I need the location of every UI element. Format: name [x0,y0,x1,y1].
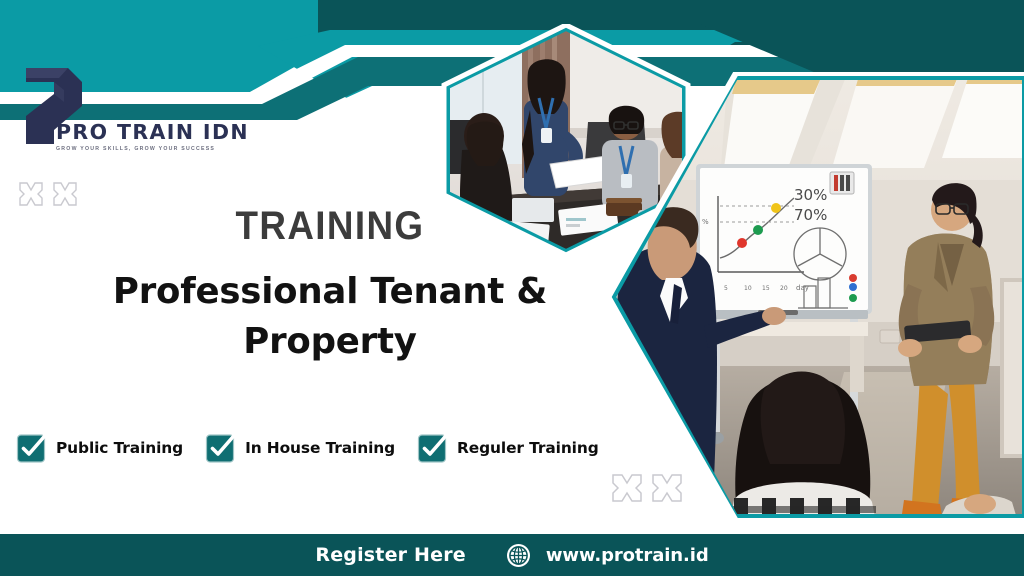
brand-tagline: GROW YOUR SKILLS, GROW YOUR SUCCESS [56,147,246,152]
page-title-line-2: Property [60,317,600,367]
svg-text:10: 10 [744,285,752,292]
page-title-line-1: Professional Tenant & [60,267,600,317]
svg-text:15: 15 [762,285,770,292]
training-option-in-house[interactable]: In House Training [205,432,395,463]
footer-register-bar: Register Here www.protrain.id [0,534,1024,576]
training-option-label: Public Training [56,439,183,457]
svg-text:5: 5 [724,285,728,292]
brand-logo-text: PRO TRAIN IDN GROW YOUR SKILLS, GROW YOU… [56,122,246,152]
training-promo-poster: PRO TRAIN IDN GROW YOUR SKILLS, GROW YOU… [0,0,1024,576]
brand-name: PRO TRAIN IDN [56,122,246,143]
photo-training-whiteboard-presentation: 5 10 15 20 day % 30% 70% [608,72,1024,522]
page-title: Professional Tenant & Property [60,267,600,368]
checkbox-checked-icon[interactable] [417,432,448,463]
brand-logo[interactable]: PRO TRAIN IDN GROW YOUR SKILLS, GROW YOU… [14,60,244,160]
svg-text:day: day [796,284,809,292]
training-options-list: Public Training In House Training Regule… [16,432,599,463]
training-option-label: In House Training [245,439,395,457]
svg-text:20: 20 [780,285,788,292]
website-link[interactable]: www.protrain.id [506,543,709,568]
x-mark-icon [54,183,76,205]
training-option-label: Reguler Training [457,439,599,457]
x-mark-icon [20,183,42,205]
globe-icon [506,543,531,568]
training-option-public[interactable]: Public Training [16,432,183,463]
svg-text:70%: 70% [794,206,827,224]
training-option-reguler[interactable]: Reguler Training [417,432,599,463]
svg-text:30%: 30% [794,186,827,204]
checkbox-checked-icon[interactable] [16,432,47,463]
website-url-text: www.protrain.id [546,545,709,566]
register-here-label: Register Here [315,544,466,566]
svg-text:%: % [702,218,709,226]
checkbox-checked-icon[interactable] [205,432,236,463]
